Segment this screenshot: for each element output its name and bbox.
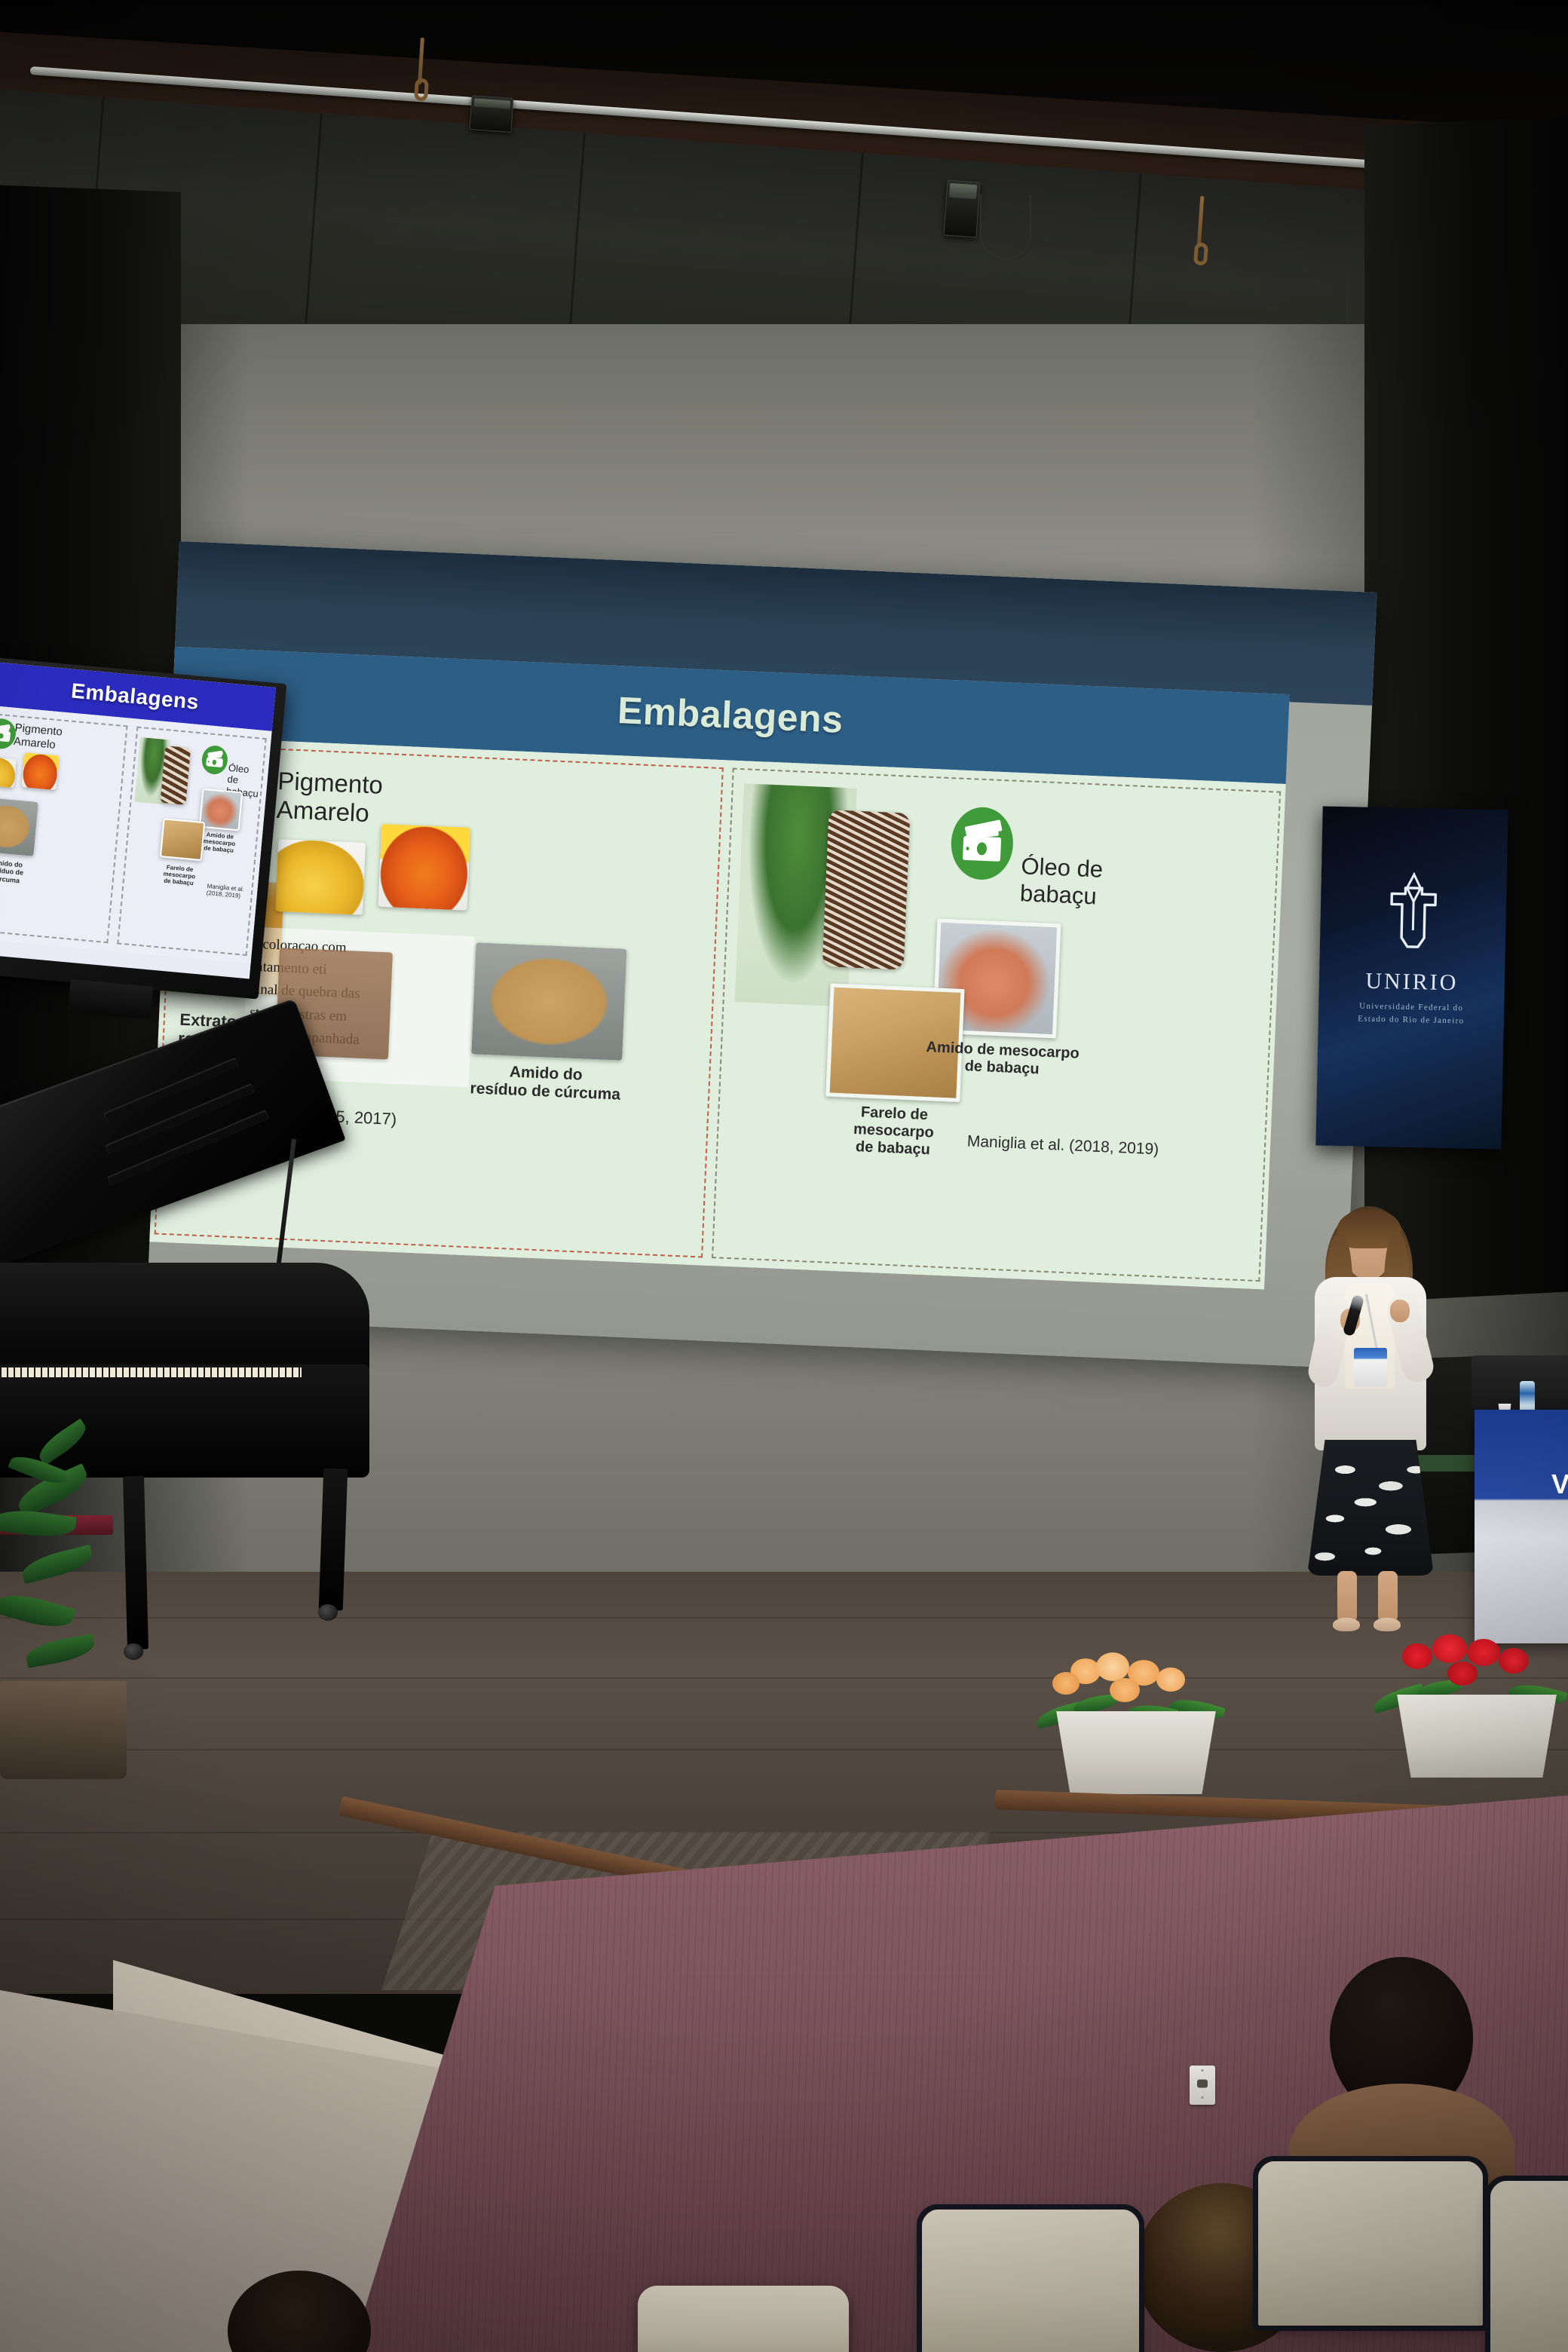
piano-case xyxy=(0,1364,369,1478)
plant-pot xyxy=(0,1681,127,1779)
piano-caster xyxy=(318,1604,338,1621)
monitor-panel-left: Pigmento Amarelo Amido do resíduo de cúr… xyxy=(0,714,128,943)
flower-bloom xyxy=(1432,1634,1467,1663)
caption-farelo-mesocarpo-babacu: Farelo de mesocarpo de babaçu xyxy=(819,1102,969,1160)
citation-right-panel: Maniglia et al. (2018, 2019) xyxy=(966,1132,1159,1159)
m-caption-farelo-babacu: Farelo de mesocarpo de babaçu xyxy=(155,863,204,888)
pudding-photo xyxy=(378,823,471,910)
presenter-skirt xyxy=(1307,1440,1434,1576)
pigmento-amarelo-label: Pigmento Amarelo xyxy=(276,766,384,829)
butter-photo xyxy=(0,756,17,788)
m-oleo-l1: Óleo de xyxy=(227,762,263,789)
m-citation-right: Maniglia et al. (2018, 2019) xyxy=(206,883,251,900)
presenter-shoe-left xyxy=(1333,1618,1360,1631)
flower-bloom xyxy=(1110,1678,1140,1702)
planter-box xyxy=(1390,1695,1563,1778)
monitor-slide-title: Embalagens xyxy=(70,679,200,715)
starch-disc-photo xyxy=(471,942,626,1060)
presenter-shoe-right xyxy=(1374,1618,1401,1631)
conference-photo-scene: Embalagens Pigmento Amarelo xyxy=(0,0,1568,2352)
fixture-cable xyxy=(980,194,1031,259)
film-on-hand-photo xyxy=(199,789,243,831)
flower-bloom xyxy=(1467,1639,1500,1666)
stage-light-fixture xyxy=(943,180,980,238)
presenter-badge xyxy=(1354,1348,1387,1387)
auditorium-seat[interactable] xyxy=(638,2286,849,2352)
monitor-slide-body: Pigmento Amarelo Amido do resíduo de cúr… xyxy=(0,706,272,963)
planter-box xyxy=(1049,1711,1223,1794)
pudding-photo xyxy=(22,752,60,790)
unirio-trident-logo xyxy=(1380,871,1447,957)
caption-amido-residuo-curcuma: Amido do resíduo de cúrcuma xyxy=(464,1061,628,1104)
monitor-screen: Embalagens Pigmento Amarelo Amido do xyxy=(0,663,276,979)
stage-light-fixture xyxy=(469,95,513,133)
confidence-monitor[interactable]: Embalagens Pigmento Amarelo Amido do xyxy=(0,657,286,1000)
money-bill-icon xyxy=(201,745,228,776)
piano-leg-rear xyxy=(319,1468,348,1610)
oleo-label-line1: Óleo de xyxy=(1021,853,1104,884)
flower-bloom xyxy=(1402,1643,1432,1669)
money-bill-icon xyxy=(950,806,1015,880)
table-banner-letter: V xyxy=(1551,1468,1568,1500)
flower-bloom xyxy=(1499,1648,1529,1674)
unirio-banner: UNIRIO Universidade Federal do Estado do… xyxy=(1315,806,1508,1149)
grand-piano xyxy=(0,1116,400,1689)
slide-panel-oleo-de-babacu: Óleo de babaçu Amido de mesocarpo de bab… xyxy=(712,767,1281,1282)
m-caption-amido-curcuma: Amido do resíduo de cúrcuma xyxy=(0,857,39,887)
skirted-table: V xyxy=(1475,1410,1568,1643)
banner-university-name: UNIRIO xyxy=(1319,967,1505,997)
monitor-panel-right: Óleo de babaçu Amido de mesocarpo de bab… xyxy=(117,727,267,956)
pigmento-label-line1: Pigmento xyxy=(277,766,384,800)
piano-leg-front xyxy=(123,1476,149,1650)
piano-keyboard xyxy=(0,1367,302,1377)
slide-title: Embalagens xyxy=(617,688,844,742)
flower-bloom xyxy=(1447,1661,1478,1686)
flower-bloom xyxy=(1052,1672,1080,1695)
caption-r-b-line1: Farelo de mesocarpo xyxy=(819,1102,969,1143)
butter-photo xyxy=(275,838,366,914)
babassu-bunch-photo xyxy=(822,810,911,969)
m-caption-amido-babacu: Amido de mesocarpo de babaçu xyxy=(194,830,245,855)
presenter xyxy=(1298,1205,1441,1631)
rope-knot xyxy=(414,78,429,101)
oleo-de-babacu-label: Óleo de babaçu xyxy=(1019,853,1104,911)
caption-amido-mesocarpo-babacu: Amido de mesocarpo de babaçu xyxy=(923,1038,1082,1080)
piano-caster xyxy=(124,1643,143,1660)
flower-bloom xyxy=(1096,1652,1129,1681)
presenter-hand-right xyxy=(1390,1300,1410,1322)
oleo-label-line2: babaçu xyxy=(1019,880,1102,911)
flower-bloom xyxy=(1156,1668,1185,1692)
rope-knot xyxy=(1193,242,1208,265)
babassu-bunch-photo xyxy=(160,746,191,805)
starch-disc-photo xyxy=(0,797,38,856)
auditorium-seat-frame xyxy=(1253,2156,1488,2331)
banner-university-subtitle: Universidade Federal do Estado do Rio de… xyxy=(1318,999,1505,1027)
wall-power-outlet xyxy=(1190,2066,1215,2105)
presenter-leg-right xyxy=(1378,1571,1398,1622)
auditorium-seat-frame xyxy=(917,2204,1144,2352)
pigmento-label-line2: Amarelo xyxy=(276,795,382,829)
auditorium-seat-frame xyxy=(1485,2176,1568,2352)
monitor-pigmento-label: Pigmento Amarelo xyxy=(13,721,63,752)
presenter-leg-left xyxy=(1337,1571,1357,1622)
